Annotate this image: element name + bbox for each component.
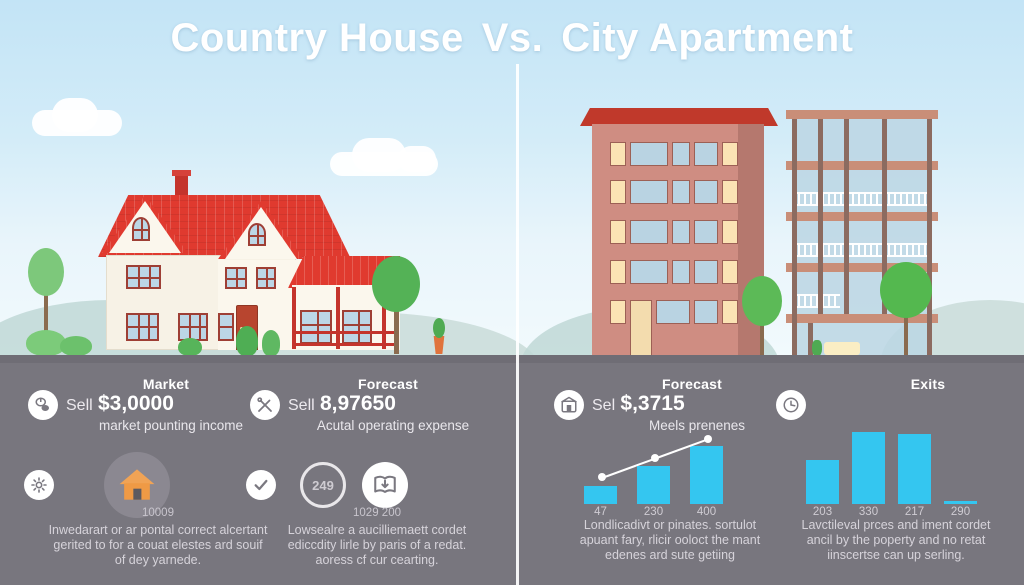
- book-icon[interactable]: [362, 462, 408, 508]
- chart-bar: [898, 434, 931, 504]
- apartment-window: [722, 142, 738, 166]
- stat-value-lead: Sell: [288, 397, 315, 414]
- chart-bar-label: 47: [584, 506, 617, 518]
- plant-foliage-shape: [433, 318, 445, 338]
- apartment-window: [630, 142, 668, 166]
- floor-slab: [786, 110, 938, 119]
- stat-block-forecast-expense[interactable]: Forecast Sell 8,97650 Acutal operating e…: [250, 378, 500, 438]
- dormer-window: [132, 217, 150, 241]
- tools-icon: [250, 390, 280, 420]
- stat-value-number: $,3715: [620, 392, 684, 415]
- apartment-window: [610, 220, 626, 244]
- bush-shape: [236, 326, 258, 356]
- chart-bar: [584, 486, 617, 504]
- infographic-canvas: Country House Vs. City Apartment Market …: [0, 0, 1024, 585]
- chart-bar-label: 230: [637, 506, 670, 518]
- trendline-marker: [704, 435, 712, 443]
- porch-window: [300, 310, 332, 344]
- feature-description: Londlicadivt or pinates. sortulot apuant…: [580, 518, 760, 562]
- feature-text-block: Londlicadivt or pinates. sortulot apuant…: [572, 518, 768, 563]
- window-mullion: [128, 277, 159, 279]
- dormer-window: [248, 223, 266, 246]
- city-apartment-illustration: [588, 108, 770, 360]
- window-mullion: [227, 278, 245, 280]
- apartment-window: [610, 142, 626, 166]
- bank-icon: [554, 390, 584, 420]
- apartment-window: [656, 300, 690, 324]
- window-mullion: [128, 326, 157, 328]
- window-mullion: [220, 326, 232, 328]
- bush-shape: [60, 336, 92, 356]
- apartment-window: [694, 260, 718, 284]
- chart-bar-label: 290: [944, 506, 977, 518]
- tree-foliage-shape: [28, 248, 64, 296]
- badge-249-icon[interactable]: 249: [300, 462, 346, 508]
- stat-label: Exits: [828, 376, 1024, 392]
- bush-shape: [178, 338, 202, 356]
- chart-bar-label: 400: [690, 506, 723, 518]
- chart-bar: [944, 501, 977, 504]
- building-column: [818, 119, 823, 314]
- title-separator: Vs.: [482, 16, 544, 61]
- chart-bar-label: 203: [806, 506, 839, 518]
- badge-value: 249: [312, 478, 334, 493]
- apartment-window: [722, 260, 738, 284]
- apartment-window: [672, 220, 690, 244]
- apartment-window: [694, 180, 718, 204]
- stat-sublabel: market pounting income: [66, 418, 276, 433]
- house-window: [225, 267, 247, 289]
- stat-sublabel: Acutal operating expense: [288, 418, 498, 433]
- balcony-railing: [792, 192, 932, 206]
- balcony-railing: [792, 243, 932, 257]
- house-window: [178, 313, 208, 341]
- apartment-window: [630, 220, 668, 244]
- lobby-plant-shape: [812, 340, 822, 356]
- window-mullion: [302, 324, 330, 326]
- feature-text-block: 1029 200 Lowsealre a aucilliemaett corde…: [272, 506, 482, 568]
- apartment-window: [630, 260, 668, 284]
- porch-column: [292, 287, 296, 349]
- chimney-cap-shape: [172, 170, 191, 176]
- stat-value-number: 8,97650: [320, 392, 396, 415]
- apartment-window: [672, 142, 690, 166]
- apartment-window: [610, 300, 626, 324]
- porch-railing: [294, 331, 398, 334]
- lobby-sofa-shape: [824, 342, 860, 355]
- floor-slab: [786, 161, 938, 170]
- chart-bar-label: 330: [852, 506, 885, 518]
- building-column: [792, 119, 797, 360]
- window-mullion: [180, 326, 206, 328]
- stat-block-market[interactable]: Market Sell $3,0000 market pounting inco…: [28, 378, 268, 438]
- growth-bars-with-trendline[interactable]: 47 230 400: [580, 428, 740, 504]
- chart-bar: [806, 460, 839, 504]
- trendline-marker: [598, 473, 606, 481]
- apartment-window: [610, 260, 626, 284]
- porch-column: [336, 287, 340, 349]
- feature-description: Inwedarart or ar pontal correct alcertan…: [49, 523, 268, 567]
- feature-description: Lowsealre a aucilliemaett cordet ediccdi…: [288, 523, 467, 567]
- apartment-entrance-door: [630, 300, 652, 360]
- cloud-icon: [398, 146, 436, 172]
- stat-value-number: $3,0000: [98, 392, 174, 415]
- floor-slab: [786, 212, 938, 221]
- feature-text-block: 10009 Inwedarart or ar pontal correct al…: [48, 506, 268, 568]
- tree-foliage-shape: [742, 276, 782, 326]
- window-mullion: [317, 312, 319, 342]
- stat-value: Sell 8,97650: [288, 392, 488, 416]
- feature-description: Lavctileval prces and iment cordet ancil…: [802, 518, 991, 562]
- stat-label: Forecast: [592, 376, 792, 392]
- check-icon[interactable]: [246, 470, 276, 500]
- apartment-window: [694, 142, 718, 166]
- balcony-railing: [792, 294, 840, 308]
- chart-bar: [852, 432, 885, 504]
- stat-block-exits[interactable]: Exits: [776, 378, 976, 428]
- stat-value-lead: Sell: [66, 397, 93, 414]
- title-right: City Apartment: [561, 16, 853, 61]
- feature-kpi: 10009: [48, 506, 268, 521]
- window-mullion: [258, 278, 274, 280]
- chart-bar: [637, 466, 670, 504]
- window-mullion: [358, 312, 360, 342]
- tree-foliage-shape: [372, 256, 420, 312]
- house-window: [256, 267, 276, 289]
- porch-railing: [294, 343, 398, 346]
- chart-bar: [690, 446, 723, 504]
- window-mullion: [250, 235, 264, 237]
- house-window: [126, 265, 161, 289]
- country-house-illustration: [70, 165, 390, 360]
- apartment-window: [672, 260, 690, 284]
- window-mullion: [134, 229, 148, 231]
- porch-window: [342, 310, 372, 344]
- apartment-window: [722, 180, 738, 204]
- trendline-marker: [651, 454, 659, 462]
- stat-label: Forecast: [288, 376, 488, 392]
- stat-value: Sel $,3715: [592, 392, 792, 416]
- feature-kpi: 1029 200: [272, 506, 482, 521]
- chart-bar-label: 217: [898, 506, 931, 518]
- feature-text-block: Lavctileval prces and iment cordet ancil…: [800, 518, 992, 563]
- apartment-window: [722, 300, 738, 324]
- window-mullion: [344, 324, 370, 326]
- bush-shape: [262, 330, 280, 356]
- building-column: [927, 119, 932, 360]
- clock-icon: [776, 390, 806, 420]
- apartment-window: [694, 220, 718, 244]
- apartment-window: [722, 220, 738, 244]
- exits-bars[interactable]: 203 330 217 290: [806, 428, 986, 504]
- page-title: Country House Vs. City Apartment: [0, 8, 1024, 68]
- apartment-window: [610, 180, 626, 204]
- title-left: Country House: [171, 16, 464, 61]
- stat-label: Market: [66, 376, 266, 392]
- stat-value-lead: Sel: [592, 397, 615, 414]
- cloud-icon: [52, 98, 98, 132]
- modern-building-illustration: [786, 110, 938, 360]
- vertical-divider: [516, 64, 519, 585]
- panel-top-edge: [0, 355, 1024, 363]
- tree-foliage-shape: [880, 262, 932, 318]
- gear-icon[interactable]: [24, 470, 54, 500]
- coins-icon: [28, 390, 58, 420]
- house-window: [126, 313, 159, 341]
- apartment-window: [694, 300, 718, 324]
- apartment-window: [672, 180, 690, 204]
- glass-facade: [792, 119, 932, 161]
- building-column: [844, 119, 849, 314]
- house-window: [218, 313, 234, 341]
- stat-value: Sell $3,0000: [66, 392, 266, 416]
- apartment-window: [630, 180, 668, 204]
